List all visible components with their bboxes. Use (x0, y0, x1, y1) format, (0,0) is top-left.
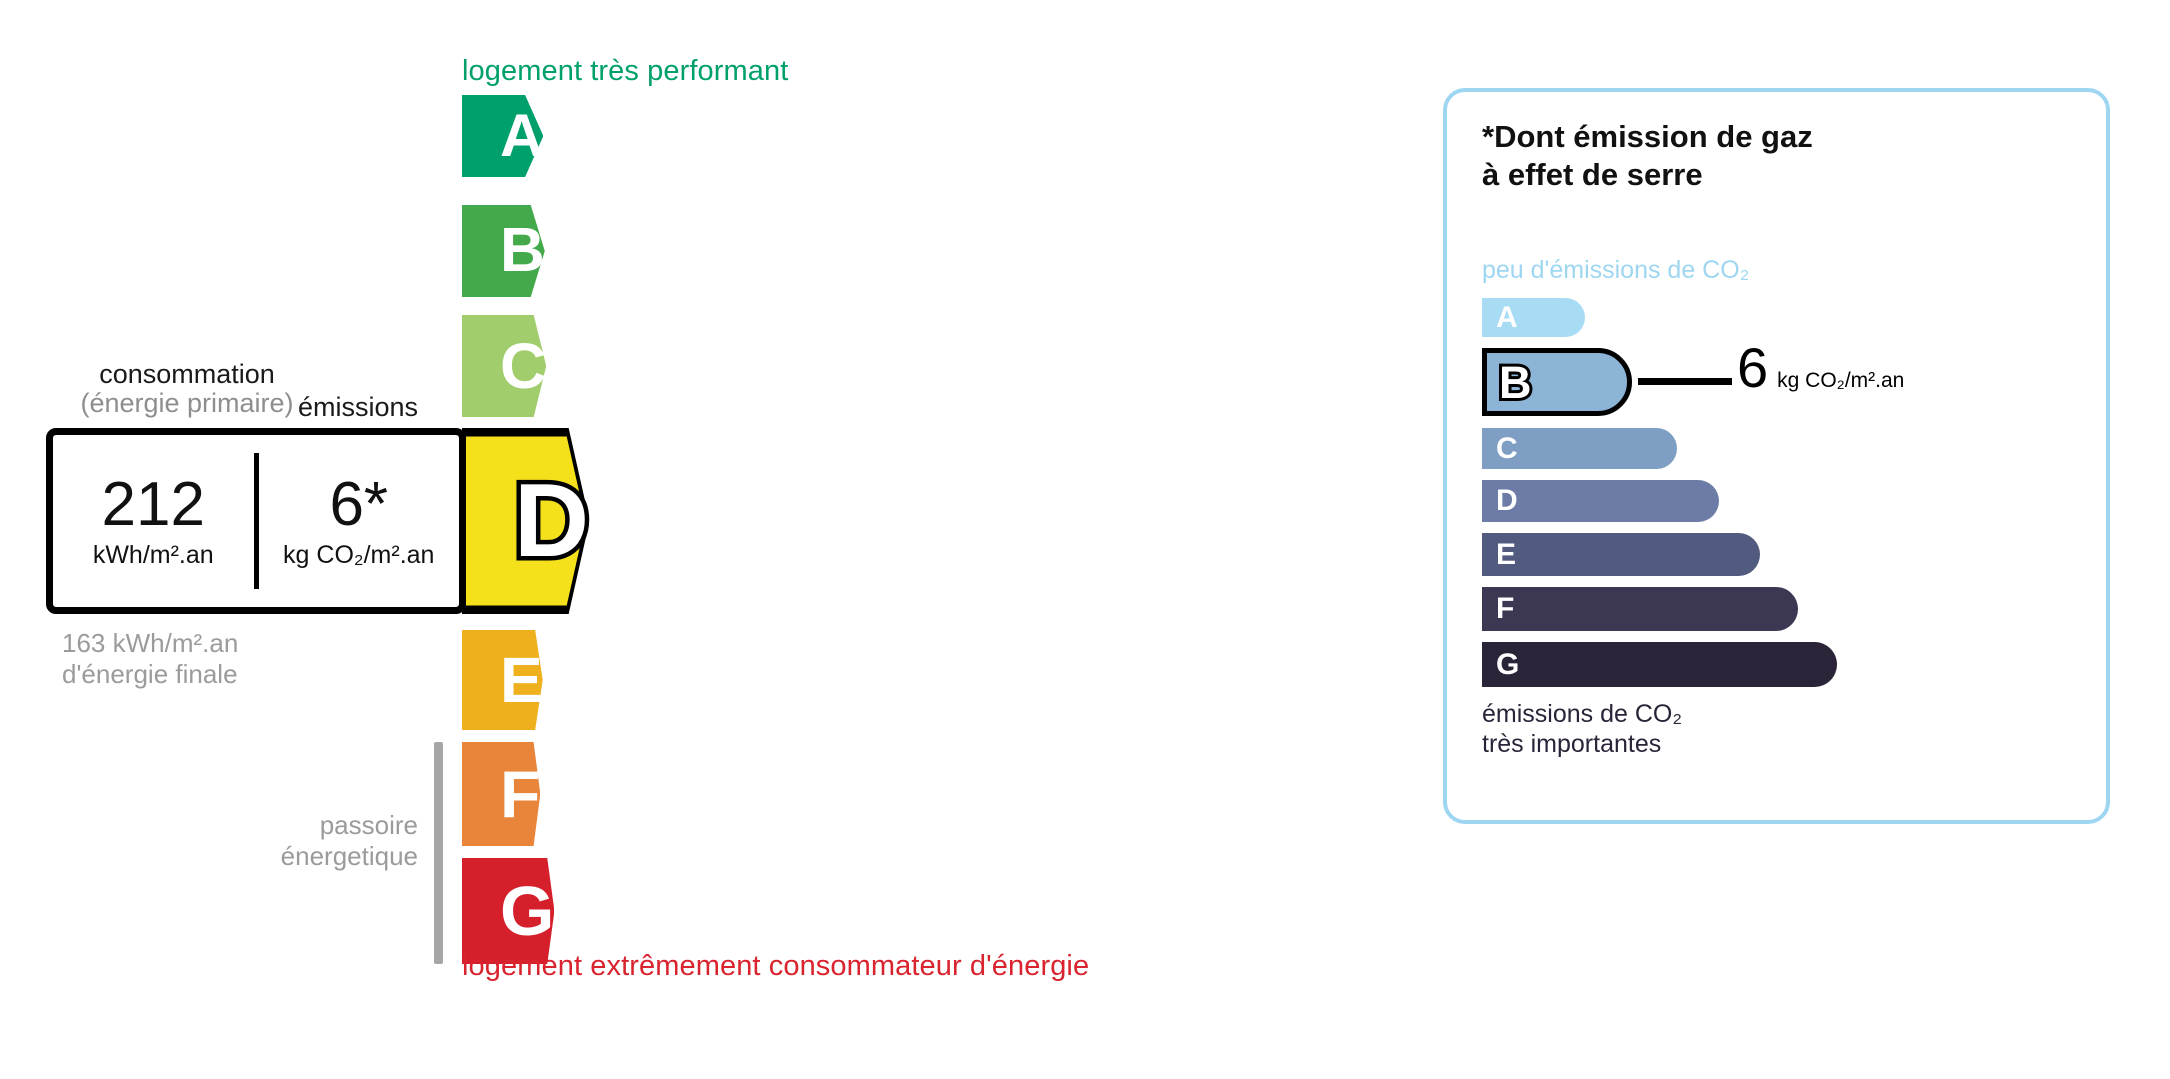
energy-arrow-a: A (462, 95, 543, 177)
co2-row-c[interactable]: C (1482, 428, 1677, 469)
energy-grade-letter: C (500, 334, 546, 398)
consumption-label-group: consommation (énergie primaire) (62, 360, 312, 418)
energy-performance-scale: logement très performant A B (0, 0, 1330, 1079)
co2-grade-letter: A (1496, 303, 1518, 333)
energy-grade-letter: G (500, 876, 554, 946)
passoire-label: passoire énergetique (200, 810, 418, 872)
consumption-sublabel: (énergie primaire) (62, 389, 312, 418)
co2-callout-value-group: 6 kg CO₂/m².an (1737, 340, 1904, 396)
co2-top-caption: peu d'émissions de CO₂ (1482, 256, 1749, 285)
energy-grade-letter-selected: D (514, 469, 589, 573)
co2-row-g[interactable]: G (1482, 642, 1837, 687)
consumption-label: consommation (99, 359, 275, 389)
co2-bar-e: E (1482, 533, 1760, 576)
co2-bar-f: F (1482, 587, 1798, 631)
energy-grade-letter: F (500, 761, 540, 827)
co2-grade-letter: D (1496, 486, 1518, 516)
emissions-value-cell: 6* kg CO₂/m².an (259, 435, 460, 607)
energy-arrow-g: G (462, 858, 554, 964)
co2-grade-letter-selected: B (1499, 360, 1532, 405)
consumption-value-cell: 212 kWh/m².an (53, 435, 254, 607)
energy-row-g[interactable]: G (462, 858, 554, 964)
energy-arrow-f: F (462, 742, 540, 846)
passoire-label-line2: énergetique (200, 841, 418, 872)
consumption-value: 212 (102, 472, 205, 537)
final-energy-note: 163 kWh/m².an d'énergie finale (62, 628, 238, 690)
co2-panel: *Dont émission de gaz à effet de serre p… (1443, 88, 2110, 824)
co2-bar-d: D (1482, 480, 1719, 522)
co2-grade-letter: G (1496, 650, 1519, 680)
energy-grade-letter: A (500, 106, 543, 166)
passoire-label-line1: passoire (200, 810, 418, 841)
co2-row-b-selected[interactable]: B (1482, 348, 1632, 416)
final-energy-sublabel: d'énergie finale (62, 659, 238, 690)
energy-row-d-selected[interactable]: D (462, 428, 589, 614)
emissions-value: 6* (329, 472, 388, 537)
co2-callout-line (1638, 378, 1732, 385)
co2-bottom-caption-line1: émissions de CO₂ (1482, 700, 1682, 730)
co2-bar-b-selected: B (1482, 348, 1632, 416)
energy-arrow-d: D (462, 428, 589, 614)
consumption-unit: kWh/m².an (93, 541, 214, 570)
co2-grade-letter: E (1496, 540, 1516, 570)
scale-top-caption: logement très performant (462, 55, 788, 88)
emissions-label: émissions (298, 392, 418, 423)
co2-bar-g: G (1482, 642, 1837, 687)
co2-bar-a: A (1482, 298, 1585, 337)
co2-bottom-caption: émissions de CO₂ très importantes (1482, 700, 1682, 759)
co2-title-line2: à effet de serre (1482, 156, 1813, 194)
energy-row-a[interactable]: A (462, 95, 543, 177)
final-energy-value: 163 kWh/m².an (62, 628, 238, 659)
emissions-unit: kg CO₂/m².an (283, 541, 434, 570)
energy-arrow-c: C (462, 315, 546, 417)
energy-row-b[interactable]: B (462, 205, 545, 297)
co2-bottom-caption-line2: très importantes (1482, 730, 1682, 760)
co2-grade-letter: F (1496, 594, 1514, 624)
co2-bar-c: C (1482, 428, 1677, 469)
co2-row-a[interactable]: A (1482, 298, 1585, 337)
co2-grade-letter: C (1496, 434, 1518, 464)
passoire-bracket (434, 742, 443, 964)
energy-row-f[interactable]: F (462, 742, 540, 846)
energy-arrow-b: B (462, 205, 545, 297)
dpe-infographic: logement très performant A B (0, 0, 2170, 1079)
co2-title-line1: *Dont émission de gaz (1482, 118, 1813, 156)
scale-bottom-caption: logement extrêmement consommateur d'éner… (462, 950, 1089, 983)
energy-grade-letter: B (500, 220, 545, 282)
values-box: 212 kWh/m².an 6* kg CO₂/m².an (46, 428, 466, 614)
co2-row-d[interactable]: D (1482, 480, 1719, 522)
energy-grade-letter: E (500, 648, 543, 712)
co2-row-e[interactable]: E (1482, 533, 1760, 576)
energy-row-c[interactable]: C (462, 315, 546, 417)
co2-callout-unit: kg CO₂/m².an (1777, 369, 1904, 393)
co2-callout-value: 6 (1737, 340, 1768, 396)
co2-row-f[interactable]: F (1482, 587, 1798, 631)
energy-row-e[interactable]: E (462, 630, 543, 730)
co2-panel-title: *Dont émission de gaz à effet de serre (1482, 118, 1813, 194)
energy-arrow-e: E (462, 630, 543, 730)
